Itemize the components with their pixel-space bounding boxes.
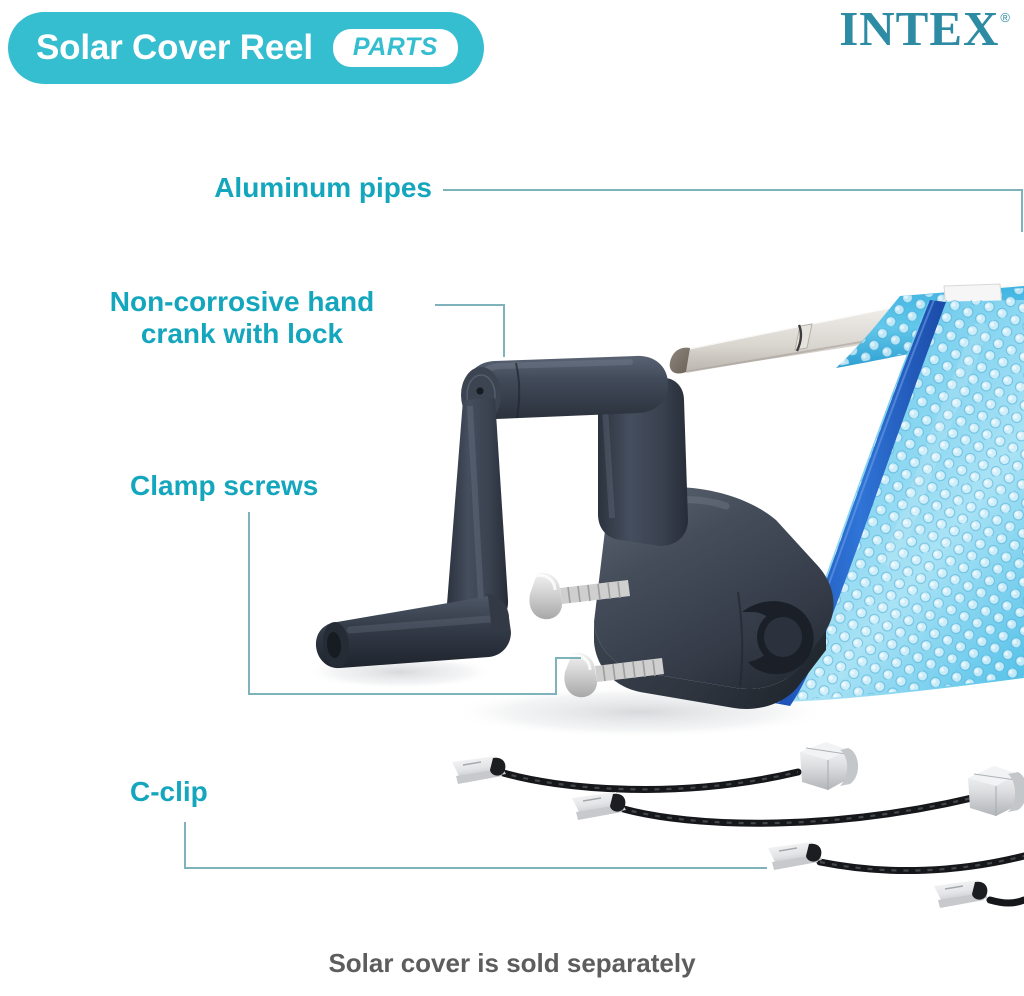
c-clip-plate [934,880,988,908]
callout-label-c-clip: C-clip [130,776,370,808]
brand-logo: INTEX ® [839,4,1010,53]
parts-badge-label: PARTS [353,33,438,62]
c-clip-plate [452,756,506,784]
c-clip-set-1 [452,742,858,790]
header-banner: Solar Cover Reel PARTS [8,12,484,84]
hand-crank-assembly [316,356,834,709]
parts-badge: PARTS [333,29,458,67]
brand-logo-text: INTEX [839,4,999,53]
callout-label-clamp-screws: Clamp screws [130,470,410,502]
footer-caption: Solar cover is sold separately [0,948,1024,979]
c-clip-plate [768,842,822,870]
c-clip-set-3 [768,842,1024,871]
page-title: Solar Cover Reel [36,28,313,68]
c-clip-plate [572,792,626,820]
c-clip-set-4 [934,880,1024,908]
registered-trademark-icon: ® [1000,10,1010,25]
callout-label-aluminum-pipes: Aluminum pipes [140,172,432,204]
c-clip-body [968,766,1024,816]
product-infographic: Solar Cover Reel PARTS INTEX ® Aluminum … [0,0,1024,996]
crank-handle [316,594,511,669]
crank-arm [447,398,508,628]
c-clip-body [800,742,858,790]
callout-label-hand-crank: Non-corrosive hand crank with lock [44,286,440,351]
